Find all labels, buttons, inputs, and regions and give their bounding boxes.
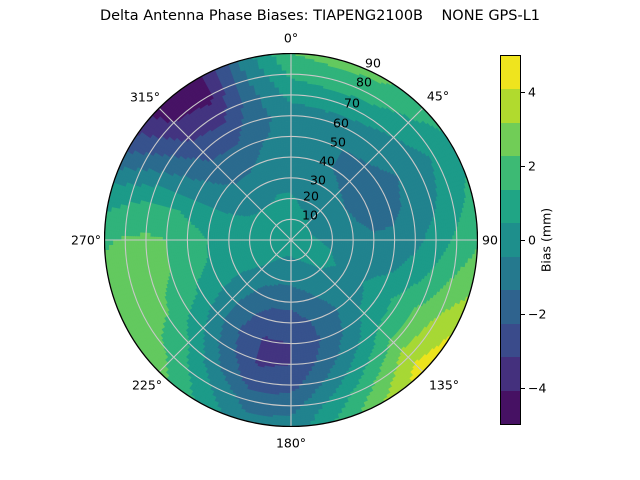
colorbar-axis-label: Bias (mm) — [539, 208, 554, 272]
page-title: Delta Antenna Phase Biases: TIAPENG2100B… — [0, 8, 640, 24]
radial-tick-label-3: 60 — [333, 116, 349, 131]
colorbar-tick-label-4: −4 — [528, 381, 546, 396]
azimuth-tick-label-1: 45° — [427, 89, 449, 104]
polar-contour-svg — [104, 53, 478, 427]
polar-axes[interactable] — [104, 53, 478, 427]
colorbar-band-8 — [501, 324, 520, 357]
azimuth-tick-label-5: 225° — [132, 378, 162, 393]
colorbar-band-6 — [501, 257, 520, 290]
radial-tick-label-5: 40 — [319, 154, 335, 169]
colorbar-band-10 — [501, 391, 520, 424]
radial-tick-label-8: 10 — [302, 208, 318, 223]
polar-grid-group — [105, 54, 478, 427]
colorbar-band-0 — [501, 56, 520, 89]
azimuth-tick-label-2: 90 — [482, 233, 498, 248]
colorbar-tick-label-2: 0 — [528, 233, 536, 248]
colorbar-band-4 — [501, 190, 520, 223]
azimuth-tick-label-7: 315° — [130, 90, 160, 105]
colorbar-band-9 — [501, 357, 520, 390]
colorbar-band-5 — [501, 223, 520, 256]
colorbar-tick-mark-3 — [521, 314, 525, 315]
colorbar-band-7 — [501, 290, 520, 323]
colorbar-tick-mark-2 — [521, 240, 525, 241]
radial-tick-label-4: 50 — [330, 135, 346, 150]
colorbar-band-3 — [501, 156, 520, 189]
colorbar-band-2 — [501, 123, 520, 156]
azimuth-tick-label-6: 270° — [71, 233, 101, 248]
azimuth-tick-label-4: 180° — [276, 436, 306, 451]
colorbar-tick-label-1: 2 — [528, 159, 536, 174]
colorbar-band-1 — [501, 89, 520, 122]
figure-canvas: Delta Antenna Phase Biases: TIAPENG2100B… — [0, 0, 640, 480]
radial-tick-label-0: 90 — [365, 56, 381, 71]
azimuth-tick-label-3: 135° — [429, 378, 459, 393]
colorbar[interactable] — [500, 55, 521, 425]
radial-tick-label-7: 20 — [303, 189, 319, 204]
colorbar-tick-label-0: 4 — [528, 85, 536, 100]
azimuth-tick-label-0: 0° — [284, 31, 298, 46]
radial-tick-label-1: 80 — [356, 75, 372, 90]
colorbar-tick-mark-4 — [521, 388, 525, 389]
radial-tick-label-2: 70 — [344, 96, 360, 111]
radial-tick-label-6: 30 — [310, 173, 326, 188]
colorbar-tick-label-3: −2 — [528, 307, 546, 322]
colorbar-tick-mark-1 — [521, 166, 525, 167]
colorbar-tick-mark-0 — [521, 92, 525, 93]
